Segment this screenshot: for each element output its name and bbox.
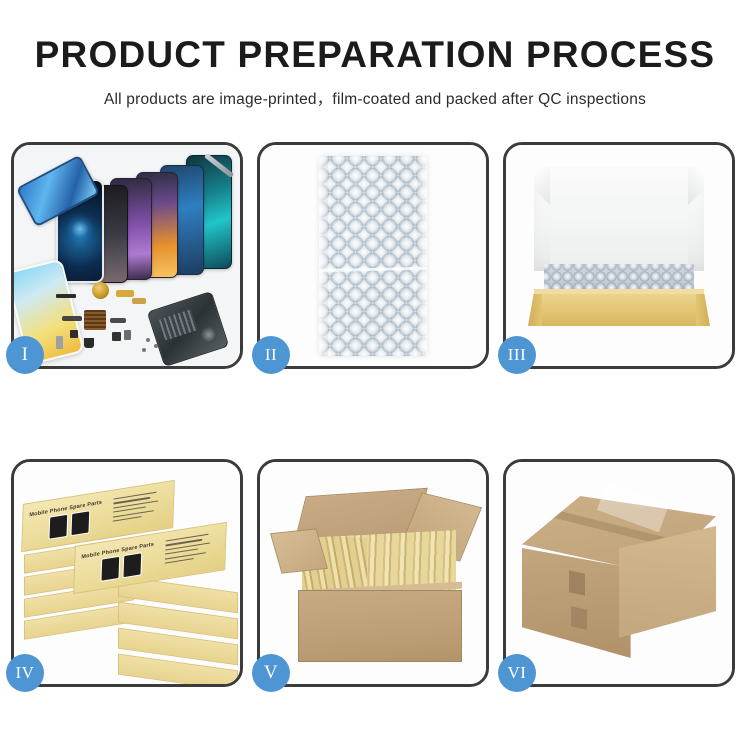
step-image-4: Mobile Phone Spare Parts Mobile Phone Sp… bbox=[14, 462, 240, 684]
step-panel-6[interactable]: VI bbox=[503, 459, 735, 687]
flex-cable-icon-1 bbox=[116, 290, 134, 297]
coil-part-icon bbox=[92, 282, 109, 299]
box-spec-lines-2 bbox=[164, 533, 215, 571]
inner-box bbox=[528, 167, 710, 326]
screw-icon-1 bbox=[146, 338, 150, 342]
wrap-edge-right bbox=[418, 156, 427, 356]
page-header: PRODUCT PREPARATION PROCESS All products… bbox=[0, 0, 750, 109]
step-badge-3: III bbox=[498, 336, 536, 374]
box-artwork-screen-1a bbox=[48, 514, 68, 540]
ribbon-cable-icon-2 bbox=[110, 318, 126, 323]
sim-tray-icon bbox=[56, 336, 63, 349]
box-artwork-screen-2a bbox=[100, 556, 120, 582]
step-panel-5[interactable]: V bbox=[257, 459, 489, 687]
carton-hand-hole-top bbox=[569, 570, 585, 595]
box-spec-lines-1 bbox=[112, 491, 163, 529]
connector-icon-1 bbox=[70, 330, 78, 338]
speaker-part-icon bbox=[56, 294, 76, 298]
box-artwork-screen-1b bbox=[70, 510, 90, 536]
bubble-pattern bbox=[319, 156, 427, 356]
connector-icon-2 bbox=[112, 332, 121, 341]
ribbon-cable-icon-1 bbox=[62, 316, 82, 321]
step-badge-6: VI bbox=[498, 654, 536, 692]
box-front-panel bbox=[534, 294, 704, 326]
process-step-grid: I II III bbox=[11, 142, 739, 687]
open-shipping-carton bbox=[276, 492, 474, 662]
step-image-6 bbox=[506, 462, 732, 684]
step-image-1 bbox=[14, 145, 240, 366]
screw-icon-2 bbox=[154, 344, 158, 348]
flex-cable-icon-2 bbox=[132, 298, 146, 304]
chip-part-icon bbox=[84, 310, 106, 330]
connector-icon-3 bbox=[124, 330, 131, 340]
screw-icon-3 bbox=[142, 348, 146, 352]
carton-hand-hole-bottom bbox=[571, 606, 587, 629]
retail-box-stack: Mobile Phone Spare Parts Mobile Phone Sp… bbox=[22, 476, 232, 678]
sealed-shipping-carton bbox=[522, 496, 716, 668]
step-image-2 bbox=[260, 145, 486, 366]
carton-front-panel bbox=[298, 590, 462, 662]
wrap-edge-left bbox=[319, 156, 328, 356]
step-badge-1: I bbox=[6, 336, 44, 374]
step-badge-4: IV bbox=[6, 654, 44, 692]
page-subtitle: All products are image-printed，film-coat… bbox=[0, 87, 750, 109]
step-image-5 bbox=[260, 462, 486, 684]
step-panel-3[interactable]: III bbox=[503, 142, 735, 369]
step-panel-2[interactable]: II bbox=[257, 142, 489, 369]
page-title: PRODUCT PREPARATION PROCESS bbox=[0, 36, 750, 73]
camera-part-icon bbox=[84, 338, 94, 348]
step-panel-1[interactable]: I bbox=[11, 142, 243, 369]
box-artwork-screen-2b bbox=[122, 552, 142, 578]
spare-parts-group bbox=[54, 282, 204, 362]
step-panel-4[interactable]: Mobile Phone Spare Parts Mobile Phone Sp… bbox=[11, 459, 243, 687]
step-badge-5: V bbox=[252, 654, 290, 692]
step-badge-2: II bbox=[252, 336, 290, 374]
step-image-3 bbox=[506, 145, 732, 366]
bubble-wrap-pack bbox=[319, 156, 427, 356]
